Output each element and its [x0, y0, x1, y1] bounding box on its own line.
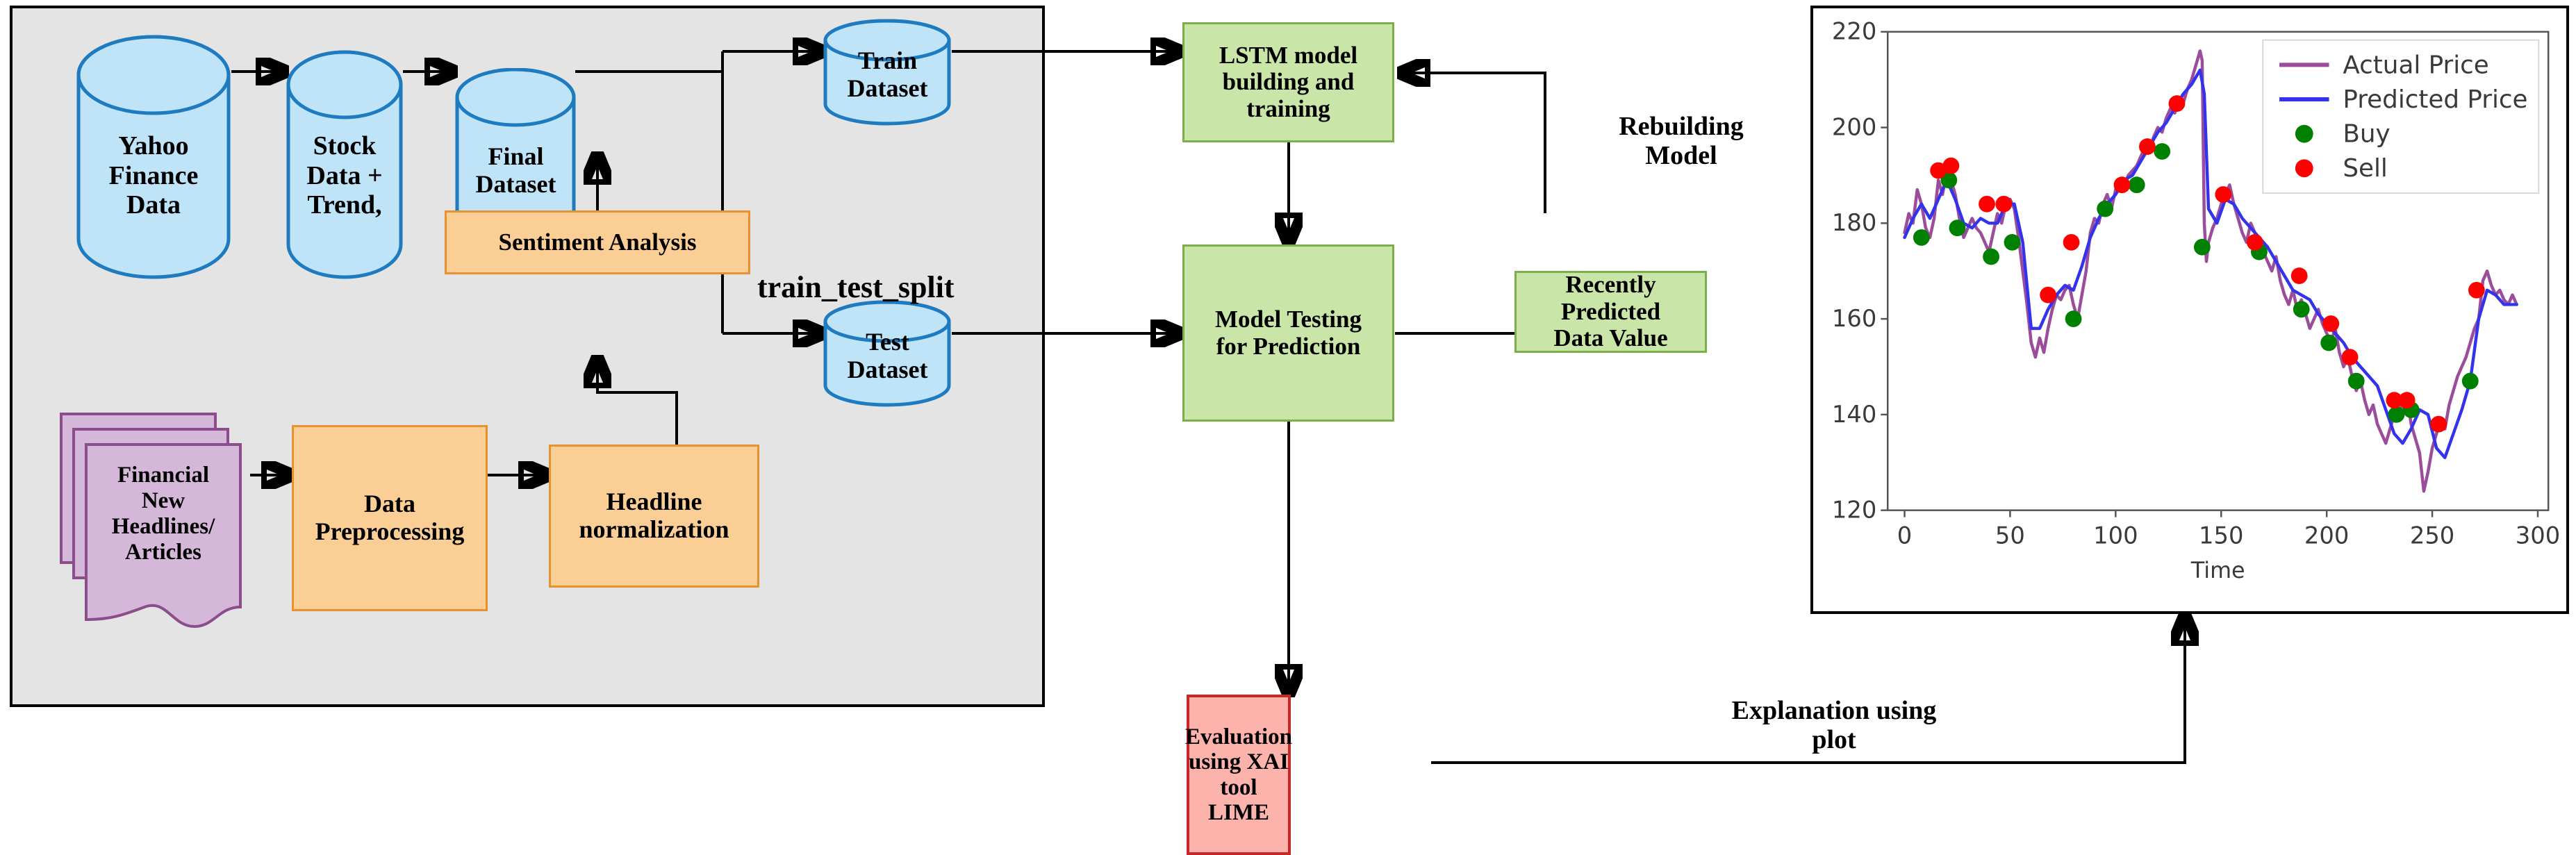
datastore-yahoo-finance-data: Yahoo Finance Data [76, 35, 231, 279]
marker-sell [1942, 158, 1959, 174]
marker-sell [1995, 196, 2012, 213]
legend-label-3: Sell [2343, 154, 2388, 183]
train-test-split-label: train_test_split [757, 271, 1049, 304]
datastore-label: Final Dataset [455, 125, 577, 215]
process-recently-predicted-data-value[interactable]: Recently Predicted Data Value [1514, 271, 1707, 353]
process-data-preprocessing[interactable]: Data Preprocessing [292, 425, 488, 611]
marker-buy [2004, 234, 2021, 251]
marker-sell [2063, 234, 2080, 251]
datastore-test-dataset: Test Dataset [823, 301, 952, 390]
marker-buy [1949, 219, 1966, 236]
legend-swatch-dot-3 [2295, 159, 2313, 177]
x-tick-label: 300 [2516, 522, 2560, 549]
rebuilding-model-label: Rebuilding Model [1567, 113, 1796, 171]
datastore-train-dataset: Train Dataset [823, 19, 952, 108]
legend-label-2: Buy [2343, 120, 2390, 149]
datastore-label: Stock Data + Trend, [286, 117, 403, 235]
y-tick-label: 200 [1832, 113, 1876, 140]
process-sentiment-analysis[interactable]: Sentiment Analysis [445, 210, 750, 274]
process-headline-normalization[interactable]: Headline normalization [549, 445, 759, 588]
marker-buy [2065, 310, 2082, 327]
flowchart-canvas: Yahoo Finance Data Stock Data + Trend, F… [0, 0, 2576, 855]
explanation-using-plot-label: Explanation using plot [1681, 697, 1987, 755]
process-lstm-model-building[interactable]: LSTM model building and training [1182, 22, 1394, 142]
x-tick-label: 200 [2304, 522, 2349, 549]
marker-sell [2215, 186, 2231, 203]
marker-sell [2342, 349, 2359, 365]
marker-sell [2114, 176, 2131, 193]
marker-sell [2430, 416, 2447, 433]
marker-buy [1983, 249, 1999, 265]
datastore-stock-data-trend: Stock Data + Trend, [286, 50, 403, 279]
marker-sell [2139, 138, 2156, 155]
marker-buy [2154, 143, 2170, 160]
x-tick-label: 250 [2410, 522, 2454, 549]
datastore-label: Train Dataset [823, 46, 952, 103]
marker-buy [2097, 201, 2113, 217]
marker-buy [1913, 229, 1930, 246]
y-tick-label: 180 [1832, 209, 1876, 236]
marker-sell [2322, 315, 2339, 332]
process-evaluation-xai-lime[interactable]: Evaluation using XAI tool LIME [1187, 695, 1291, 855]
legend-swatch-dot-2 [2295, 125, 2313, 143]
edge-recent-lstm [1400, 73, 1545, 213]
marker-buy [2388, 406, 2405, 423]
prediction-chart: 120140160180200220050100150200250300Time… [1813, 8, 2566, 613]
marker-sell [2169, 95, 2186, 112]
marker-sell [2468, 282, 2485, 299]
prediction-chart-frame: 120140160180200220050100150200250300Time… [1810, 6, 2569, 614]
legend-label-1: Predicted Price [2343, 85, 2527, 114]
x-tick-label: 100 [2093, 522, 2138, 549]
marker-buy [2320, 335, 2337, 351]
marker-sell [2291, 267, 2308, 284]
marker-sell [2399, 392, 2416, 408]
document-financial-news: Financial New Headlines/ Articles [56, 411, 257, 658]
datastore-label: Yahoo Finance Data [76, 117, 231, 235]
y-tick-label: 220 [1832, 18, 1876, 45]
marker-sell [1979, 196, 1995, 213]
marker-buy [2129, 176, 2145, 193]
x-tick-label: 150 [2199, 522, 2243, 549]
x-axis-label: Time [2190, 558, 2245, 583]
marker-buy [2462, 373, 2479, 390]
y-tick-label: 160 [1832, 305, 1876, 332]
y-tick-label: 120 [1832, 497, 1876, 524]
document-label: Financial New Headlines/ Articles [86, 463, 240, 565]
marker-buy [2293, 301, 2310, 317]
x-tick-label: 0 [1897, 522, 1912, 549]
legend-label-0: Actual Price [2343, 51, 2488, 79]
x-tick-label: 50 [1995, 522, 2025, 549]
marker-buy [2348, 373, 2365, 390]
y-tick-label: 140 [1832, 401, 1876, 428]
marker-sell [2040, 287, 2056, 304]
marker-sell [2247, 234, 2263, 251]
datastore-label: Test Dataset [823, 327, 952, 384]
process-model-testing[interactable]: Model Testing for Prediction [1182, 244, 1394, 422]
marker-buy [2194, 239, 2211, 256]
